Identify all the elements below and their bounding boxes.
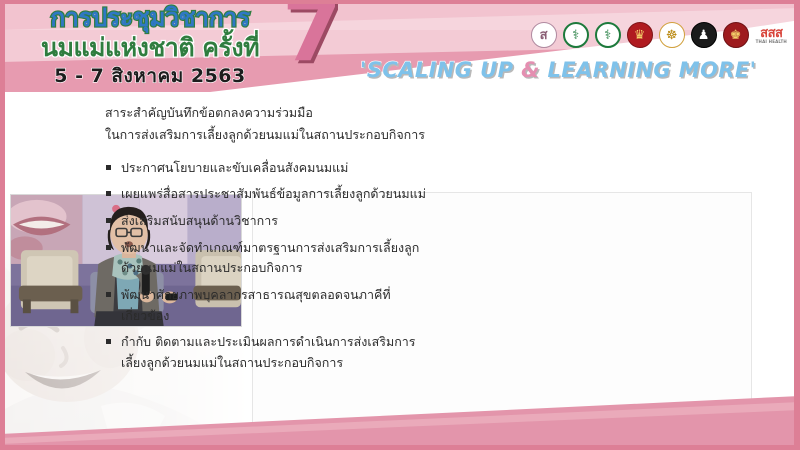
list-item: เผยแพร่สื่อสารประชาสัมพันธ์ข้อมูลการเลี้… [105, 184, 490, 205]
bullet-square-icon [106, 339, 111, 344]
bullet-line-continued: เลี้ยงลูกด้วยนมแม่ในสถานประกอบกิจการ [121, 353, 490, 374]
bullet-line: กำกับ ติดตามและประเมินผลการดำเนินการส่งเ… [121, 332, 490, 353]
bullet-square-icon [106, 292, 111, 297]
tagline-suffix: LEARNING MORE' [540, 58, 757, 82]
slide-frame-bottom [0, 445, 800, 450]
list-item: กำกับ ติดตามและประเมินผลการดำเนินการส่งเ… [105, 332, 490, 373]
bottom-pink-band [0, 394, 800, 450]
logo-sss-text: สสส [760, 27, 782, 40]
logo-thaihealth-sss-icon: สสส THAI HEALTH [755, 22, 788, 48]
slide-frame-top [0, 0, 800, 4]
tagline-ampersand: & [521, 58, 540, 82]
bullet-line-continued: เกี่ยวข้อง [121, 306, 490, 327]
logo-sss-subtext: THAI HEALTH [756, 40, 787, 44]
slide-body: สาระสำคัญบันทึกข้อตกลงความร่วมมือ ในการส… [5, 92, 794, 445]
conference-date: 5 - 7 สิงหาคม 2563 [16, 67, 284, 86]
logo-univ-red-glyph: ♚ [730, 29, 742, 42]
logo-garuda-glyph: ☸ [666, 29, 678, 42]
logo-royal-emblem-icon: ♛ [627, 22, 653, 48]
edition-number: 7 [282, 0, 342, 74]
bullet-line: เผยแพร่สื่อสารประชาสัมพันธ์ข้อมูลการเลี้… [121, 184, 490, 205]
logo-garuda-gold-icon: ☸ [659, 22, 685, 48]
conference-title-block: การประชุมวิชาการ นมแม่แห่งชาติ ครั้งที่ … [16, 2, 284, 86]
conference-tagline: 'SCALING UP & LEARNING MORE' [360, 58, 756, 82]
bullet-line-continued: ด้วยนมแม่ในสถานประกอบกิจการ [121, 258, 490, 279]
logo-university-black-icon: ♟ [691, 22, 717, 48]
bullet-square-icon [106, 191, 111, 196]
list-item: พัฒนาศักยภาพบุคลากรสาธารณสุขตลอดจนภาคีที… [105, 285, 490, 326]
slide-header-banner: การประชุมวิชาการ นมแม่แห่งชาติ ครั้งที่ … [0, 0, 800, 92]
bullet-line: ประกาศนโยบายและขับเคลื่อนสังคมนมแม่ [121, 158, 490, 179]
sponsor-logo-strip: ส ⚕ ⚕ ♛ ☸ ♟ ♚ สสส THAI HEALTH [531, 22, 788, 48]
mou-bullet-list: ประกาศนโยบายและขับเคลื่อนสังคมนมแม่ เผยแ… [105, 158, 490, 374]
bullet-square-icon [106, 218, 111, 223]
logo-university-red-icon: ♚ [723, 22, 749, 48]
list-item: ส่งเสริมสนับสนุนด้านวิชาการ [105, 211, 490, 232]
bullet-line: ส่งเสริมสนับสนุนด้านวิชาการ [121, 211, 490, 232]
content-text-area: สาระสำคัญบันทึกข้อตกลงความร่วมมือ ในการส… [105, 102, 490, 379]
list-item: ประกาศนโยบายและขับเคลื่อนสังคมนมแม่ [105, 158, 490, 179]
logo-mph1-glyph: ⚕ [572, 29, 579, 42]
tagline-prefix: 'SCALING UP [360, 58, 521, 82]
content-heading-line1: สาระสำคัญบันทึกข้อตกลงความร่วมมือ [105, 102, 490, 124]
logo-univ-black-glyph: ♟ [698, 29, 710, 42]
bullet-line: พัฒนาและจัดทำเกณฑ์มาตรฐานการส่งเสริมการเ… [121, 238, 490, 259]
bullet-line: พัฒนาศักยภาพบุคลากรสาธารณสุขตลอดจนภาคีที… [121, 285, 490, 306]
conference-title-line1: การประชุมวิชาการ [16, 2, 284, 33]
logo-princess-mother-icon: ส [531, 22, 557, 48]
conference-title-line2: นมแม่แห่งชาติ ครั้งที่ [16, 32, 284, 63]
slide-frame-right [794, 0, 800, 450]
logo-mph2-glyph: ⚕ [604, 29, 611, 42]
logo-princess-mother-glyph: ส [540, 29, 548, 42]
list-item: พัฒนาและจัดทำเกณฑ์มาตรฐานการส่งเสริมการเ… [105, 238, 490, 279]
logo-royal-glyph: ♛ [634, 29, 646, 42]
slide-frame-left [0, 0, 5, 450]
bullet-square-icon [106, 165, 111, 170]
content-heading-line2: ในการส่งเสริมการเลี้ยงลูกด้วยนมแม่ในสถาน… [105, 124, 490, 146]
presentation-slide: การประชุมวิชาการ นมแม่แห่งชาติ ครั้งที่ … [0, 0, 800, 450]
logo-ministry-public-health-1-icon: ⚕ [563, 22, 589, 48]
logo-ministry-public-health-2-icon: ⚕ [595, 22, 621, 48]
bullet-square-icon [106, 245, 111, 250]
